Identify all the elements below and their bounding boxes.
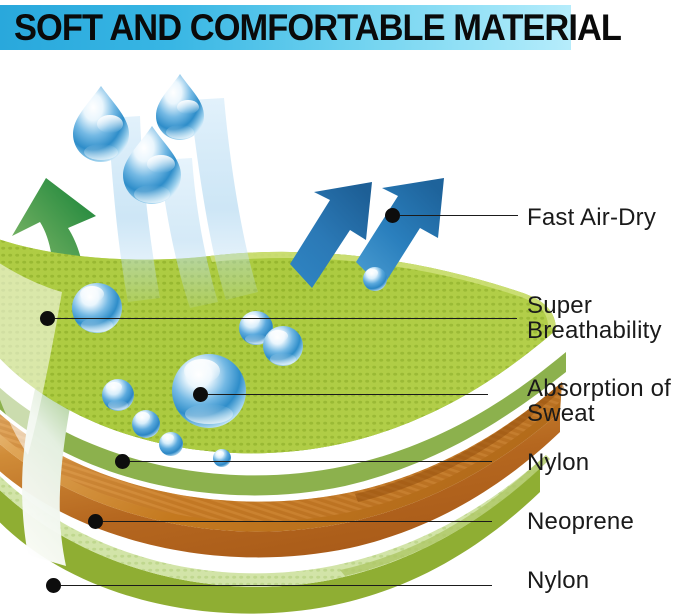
leader-line-nylon-bottom — [61, 585, 492, 586]
surface-droplet-2 — [363, 267, 387, 291]
leader-dot-nylon-top — [115, 454, 130, 469]
surface-droplet-5 — [172, 354, 246, 428]
leader-dot-absorption-of-sweat — [193, 387, 208, 402]
page-title: SOFT AND COMFORTABLE MATERIAL — [14, 5, 535, 50]
leader-line-super-breathability — [55, 318, 517, 319]
callout-label-neoprene: Neoprene — [527, 509, 634, 534]
callout-label-nylon-bottom: Nylon — [527, 568, 589, 593]
leader-line-neoprene — [103, 521, 492, 522]
leader-line-nylon-top — [130, 461, 492, 462]
leader-dot-super-breathability — [40, 311, 55, 326]
callout-label-super-breathability-line2: Breathability — [527, 318, 662, 343]
callout-label-nylon-top: Nylon — [527, 450, 589, 475]
callout-label-absorption-of-sweat-line1: Absorption of — [527, 376, 671, 401]
callout-label-super-breathability-line1: Super — [527, 293, 592, 318]
leader-dot-nylon-bottom — [46, 578, 61, 593]
surface-droplet-6 — [102, 379, 134, 411]
rising-droplet-2 — [156, 74, 204, 140]
callout-label-fast-air-dry: Fast Air-Dry — [527, 205, 656, 230]
infographic-canvas: SOFT AND COMFORTABLE MATERIAL Fast Air-D… — [0, 0, 679, 615]
surface-droplet-4 — [263, 326, 303, 366]
surface-droplet-9 — [213, 449, 231, 467]
leader-dot-fast-air-dry — [385, 208, 400, 223]
surface-droplet-1 — [72, 283, 122, 333]
leader-line-absorption-of-sweat — [208, 394, 488, 395]
leader-dot-neoprene — [88, 514, 103, 529]
surface-droplet-7 — [132, 410, 160, 438]
rising-droplet-1 — [73, 86, 129, 162]
callout-label-absorption-of-sweat-line2: Sweat — [527, 401, 595, 426]
leader-line-fast-air-dry — [400, 215, 518, 216]
surface-droplet-8 — [159, 432, 183, 456]
